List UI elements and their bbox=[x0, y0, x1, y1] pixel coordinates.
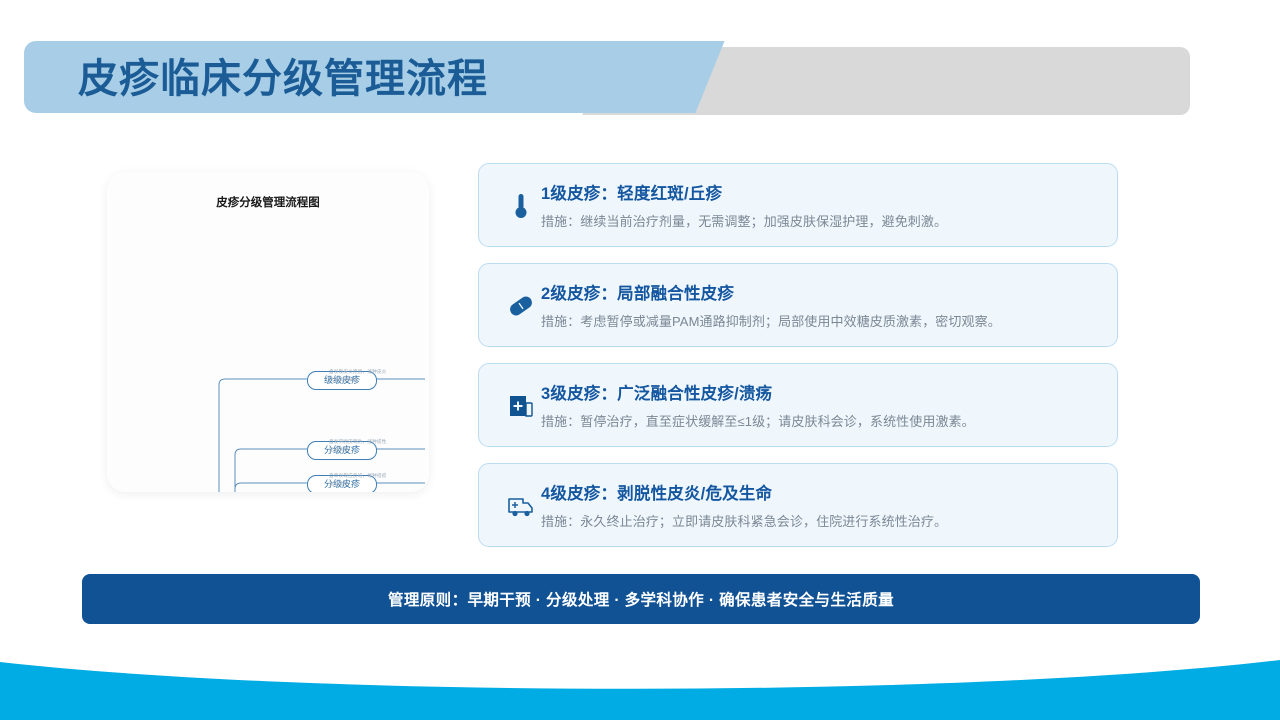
thermometer-icon bbox=[501, 164, 541, 248]
mindmap-note-1: 自发现皮炎原因，清种皮炎皮肤病因细措 bbox=[329, 368, 389, 384]
header-secondary-bar bbox=[640, 47, 1190, 115]
grade-card-3-desc: 措施：暂停治疗，直至症状缓解至≤1级；请皮肤科会诊，系统性使用激素。 bbox=[541, 411, 1099, 430]
grade-card-2-desc: 措施：考虑暂停或减量PAM通路抑制剂；局部使用中效糖皮质激素，密切观察。 bbox=[541, 311, 1099, 330]
grade-card-1[interactable]: 1级皮疹：轻度红斑/丘疹 措施：继续当前治疗剂量，无需调整；加强皮肤保湿护理，避… bbox=[478, 163, 1118, 247]
mindmap-panel: 皮疹分级管理流程图 管理方法 bbox=[107, 172, 429, 492]
pill-icon bbox=[501, 264, 541, 348]
grade-card-1-body: 1级皮疹：轻度红斑/丘疹 措施：继续当前治疗剂量，无需调整；加强皮肤保湿护理，避… bbox=[541, 180, 1099, 230]
mindmap-note-2: 自发突因皮现防，涨种提性正拍滴检 bbox=[329, 438, 389, 454]
management-principle-bar: 管理原则：早期干预 · 分级处理 · 多学科协作 · 确保患者安全与生活质量 bbox=[82, 574, 1200, 624]
grade-card-3-body: 3级皮疹：广泛融合性皮疹/溃疡 措施：暂停治疗，直至症状缓解至≤1级；请皮肤科会… bbox=[541, 380, 1099, 430]
hospital-icon bbox=[501, 364, 541, 448]
grade-card-4-desc: 措施：永久终止治疗；立即请皮肤科紧急会诊，住院进行系统性治疗。 bbox=[541, 511, 1099, 530]
grade-card-list: 1级皮疹：轻度红斑/丘疹 措施：继续当前治疗剂量，无需调整；加强皮肤保湿护理，避… bbox=[478, 163, 1118, 563]
grade-card-2-body: 2级皮疹：局部融合性皮疹 措施：考虑暂停或减量PAM通路抑制剂；局部使用中效糖皮… bbox=[541, 280, 1099, 330]
grade-card-1-title: 1级皮疹：轻度红斑/丘疹 bbox=[541, 180, 1099, 204]
page-title: 皮疹临床分级管理流程 bbox=[78, 48, 488, 110]
grade-card-3[interactable]: 3级皮疹：广泛融合性皮疹/溃疡 措施：暂停治疗，直至症状缓解至≤1级；请皮肤科会… bbox=[478, 363, 1118, 447]
management-principle-text: 管理原则：早期干预 · 分级处理 · 多学科协作 · 确保患者安全与生活质量 bbox=[388, 588, 894, 610]
grade-card-3-title: 3级皮疹：广泛融合性皮疹/溃疡 bbox=[541, 380, 1099, 404]
bottom-wave-decoration bbox=[0, 640, 1280, 720]
page-header: 皮疹临床分级管理流程 bbox=[0, 0, 1280, 140]
grade-card-4-title: 4级皮疹：剥脱性皮炎/危及生命 bbox=[541, 480, 1099, 504]
ambulance-icon bbox=[501, 464, 541, 548]
mindmap-note-3: 自草发现应反班，端种搭疫查闷理检 bbox=[329, 472, 389, 488]
grade-card-2[interactable]: 2级皮疹：局部融合性皮疹 措施：考虑暂停或减量PAM通路抑制剂；局部使用中效糖皮… bbox=[478, 263, 1118, 347]
grade-card-1-desc: 措施：继续当前治疗剂量，无需调整；加强皮肤保湿护理，避免刺激。 bbox=[541, 211, 1099, 230]
grade-card-4[interactable]: 4级皮疹：剥脱性皮炎/危及生命 措施：永久终止治疗；立即请皮肤科紧急会诊，住院进… bbox=[478, 463, 1118, 547]
grade-card-4-body: 4级皮疹：剥脱性皮炎/危及生命 措施：永久终止治疗；立即请皮肤科紧急会诊，住院进… bbox=[541, 480, 1099, 530]
grade-card-2-title: 2级皮疹：局部融合性皮疹 bbox=[541, 280, 1099, 304]
